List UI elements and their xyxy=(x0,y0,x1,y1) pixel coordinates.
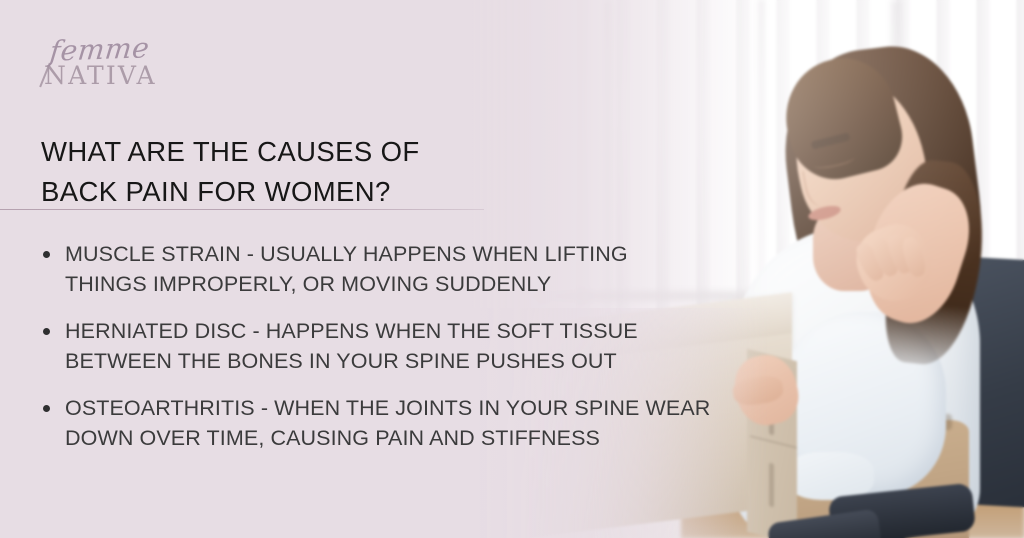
list-item-line-2: DOWN OVER TIME, CAUSING PAIN AND STIFFNE… xyxy=(65,424,796,454)
list-item: MUSCLE STRAIN - USUALLY HAPPENS WHEN LIF… xyxy=(36,240,796,299)
bullet-dot-icon xyxy=(43,405,50,412)
page-title: WHAT ARE THE CAUSES OF BACK PAIN FOR WOM… xyxy=(41,132,511,212)
header-divider xyxy=(0,209,484,210)
list-item: HERNIATED DISC - HAPPENS WHEN THE SOFT T… xyxy=(36,317,796,376)
bullet-dot-icon xyxy=(43,251,50,258)
list-item-text: OSTEOARTHRITIS - WHEN THE JOINTS IN YOUR… xyxy=(65,394,796,453)
brand-logo: femme NATIVA xyxy=(44,36,194,98)
social-graphic-canvas: femme NATIVA WHAT ARE THE CAUSES OF BACK… xyxy=(0,0,1024,538)
list-item-text: HERNIATED DISC - HAPPENS WHEN THE SOFT T… xyxy=(65,317,796,376)
list-item: OSTEOARTHRITIS - WHEN THE JOINTS IN YOUR… xyxy=(36,394,796,453)
text-content-layer: femme NATIVA WHAT ARE THE CAUSES OF BACK… xyxy=(0,0,1024,538)
list-item-line-2: BETWEEN THE BONES IN YOUR SPINE PUSHES O… xyxy=(65,347,796,377)
headline-line-1: WHAT ARE THE CAUSES OF xyxy=(41,132,511,172)
list-item-line-2: THINGS IMPROPERLY, OR MOVING SUDDENLY xyxy=(65,270,796,300)
logo-serif-word: NATIVA xyxy=(44,63,157,88)
list-item-line-1: MUSCLE STRAIN - USUALLY HAPPENS WHEN LIF… xyxy=(65,240,796,270)
headline-line-2: BACK PAIN FOR WOMEN? xyxy=(41,172,511,212)
bullet-dot-icon xyxy=(43,328,50,335)
causes-list: MUSCLE STRAIN - USUALLY HAPPENS WHEN LIF… xyxy=(36,240,796,453)
list-item-line-1: OSTEOARTHRITIS - WHEN THE JOINTS IN YOUR… xyxy=(65,394,796,424)
list-item-text: MUSCLE STRAIN - USUALLY HAPPENS WHEN LIF… xyxy=(65,240,796,299)
list-item-line-1: HERNIATED DISC - HAPPENS WHEN THE SOFT T… xyxy=(65,317,796,347)
